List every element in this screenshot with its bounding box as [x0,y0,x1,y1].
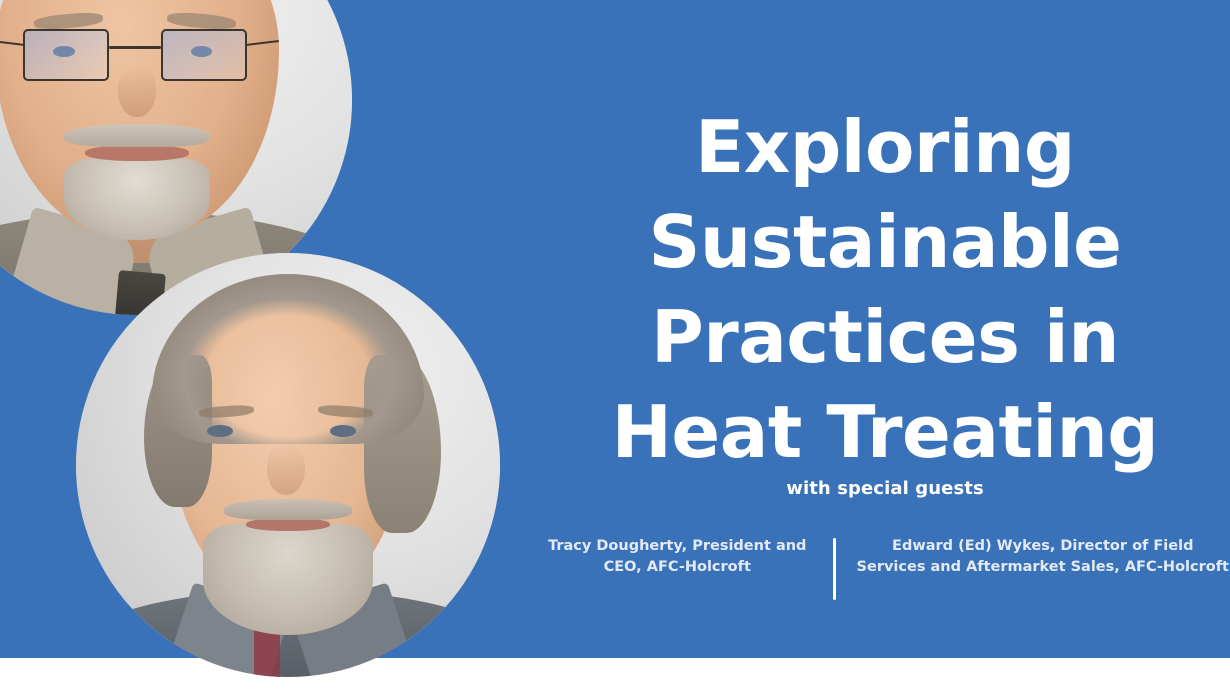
webinar-promo-slide: Exploring Sustainable Practices in Heat … [0,0,1230,691]
guest-portrait-edward-wykes [76,253,500,677]
portrait-goatee [64,158,210,240]
portrait-lips [85,145,188,160]
headline-line-2: Sustainable [540,195,1230,290]
guest-credit-right: Edward (Ed) Wykes, Director of Field Ser… [846,536,1230,578]
portrait-eyeglass-lens-left [23,29,109,81]
portrait-eye-right [330,425,355,437]
portrait-mustache [224,499,351,520]
headline-line-1: Exploring [540,100,1230,195]
page-title: Exploring Sustainable Practices in Heat … [540,100,1230,480]
headline-line-3: Practices in [540,290,1230,385]
guests-row: Tracy Dougherty, President and CEO, AFC-… [540,536,1230,600]
guest-divider [833,538,836,600]
portrait-eye-left [207,425,232,437]
portrait-nose [118,66,157,118]
portrait-mustache [64,124,210,147]
guest-credit-left: Tracy Dougherty, President and CEO, AFC-… [540,536,823,578]
portrait-eyeglass-lens-right [161,29,247,81]
portrait-eyeglass-bridge [109,46,161,48]
guests-label: with special guests [540,478,1230,499]
text-column: Exploring Sustainable Practices in Heat … [540,0,1230,658]
headline-line-4: Heat Treating [540,385,1230,480]
portrait-nose [267,444,305,495]
portrait-beard [203,524,373,634]
